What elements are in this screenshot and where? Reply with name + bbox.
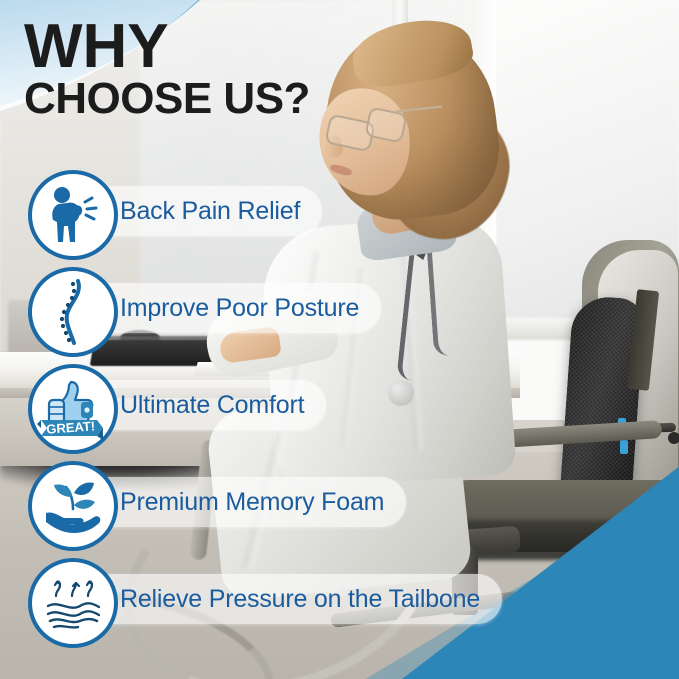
breathable-airflow-waves-icon [42, 574, 104, 632]
feature-pill: Relieve Pressure on the Tailbone [72, 574, 502, 624]
feature-label: Ultimate Comfort [120, 391, 304, 420]
feature-label: Back Pain Relief [120, 197, 300, 226]
feature-label: Relieve Pressure on the Tailbone [120, 585, 480, 614]
feature-pill: Improve Poor Posture [72, 283, 381, 333]
feature-pill: Premium Memory Foam [72, 477, 406, 527]
spine-curve-icon [48, 279, 98, 345]
feature-icon-circle: GREAT! [28, 364, 118, 454]
thumbs-up-great-ribbon-icon: GREAT! [37, 378, 109, 440]
page-title: WHY CHOOSE US? [24, 18, 310, 120]
feature-item-relieve-pressure-tailbone: Relieve Pressure on the Tailbone [0, 554, 679, 651]
product-infographic: WHY CHOOSE US? Back Pain Relief [0, 0, 679, 679]
feature-label: Improve Poor Posture [120, 294, 359, 323]
feature-icon-circle [28, 461, 118, 551]
person-back-pain-icon [45, 186, 101, 244]
feature-item-premium-memory-foam: Premium Memory Foam [0, 457, 679, 554]
feature-icon-circle [28, 267, 118, 357]
feature-icon-circle [28, 558, 118, 648]
feature-item-back-pain-relief: Back Pain Relief [0, 166, 679, 263]
feature-label: Premium Memory Foam [120, 488, 384, 517]
hand-holding-leaf-icon [42, 477, 104, 535]
feature-icon-circle [28, 170, 118, 260]
feature-item-ultimate-comfort: Ultimate Comfort GREAT! [0, 360, 679, 457]
feature-list: Back Pain Relief [0, 166, 679, 651]
headline-line-2: CHOOSE US? [24, 79, 310, 119]
headline-line-1: WHY [24, 18, 310, 75]
feature-item-improve-poor-posture: Improve Poor Posture [0, 263, 679, 360]
